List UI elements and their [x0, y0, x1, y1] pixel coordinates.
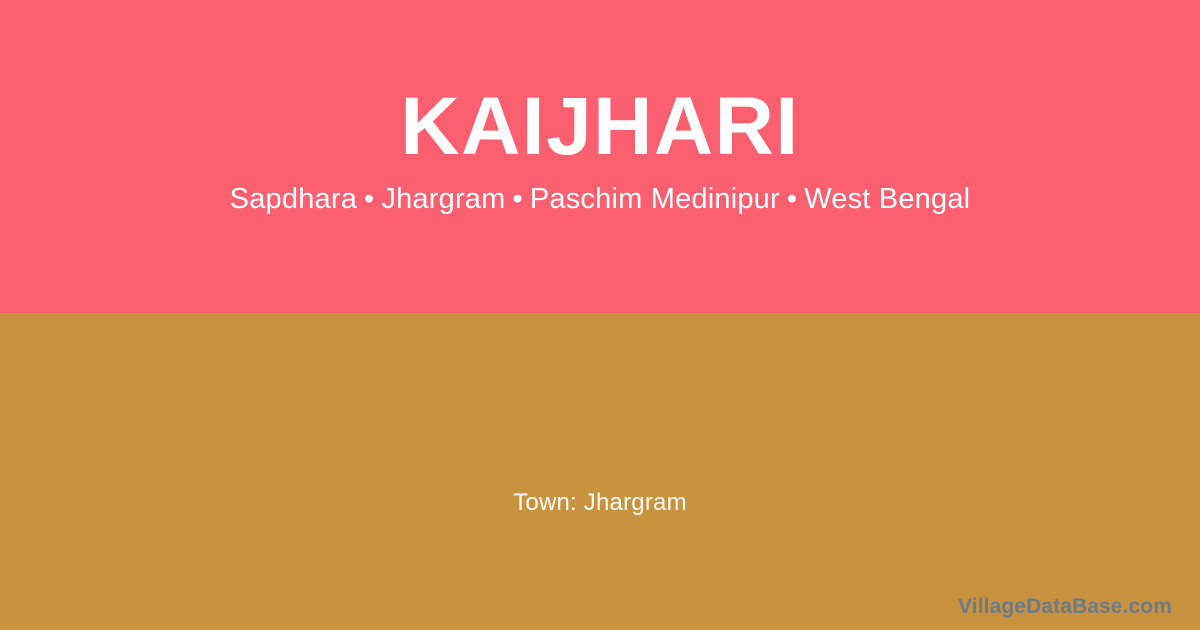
breadcrumb-item-district: Paschim Medinipur — [530, 183, 780, 215]
breadcrumb-item-village: Sapdhara — [230, 183, 357, 215]
breadcrumb-separator-icon: • — [780, 183, 804, 215]
breadcrumb-separator-icon: • — [357, 183, 381, 215]
breadcrumb-separator-icon: • — [506, 183, 530, 215]
hero-banner: KAIJHARI Sapdhara•Jhargram•Paschim Medin… — [0, 0, 1200, 313]
details-panel: Town: Jhargram VillageDataBase.com — [0, 313, 1200, 630]
site-watermark: VillageDataBase.com — [958, 594, 1172, 620]
nearest-town-detail: Town: Jhargram — [0, 488, 1200, 518]
location-breadcrumb: Sapdhara•Jhargram•Paschim Medinipur•West… — [0, 181, 1200, 217]
breadcrumb-item-block: Jhargram — [381, 183, 505, 215]
page-title: KAIJHARI — [0, 84, 1200, 170]
village-info-card: KAIJHARI Sapdhara•Jhargram•Paschim Medin… — [0, 0, 1200, 630]
breadcrumb-item-state: West Bengal — [804, 183, 970, 215]
